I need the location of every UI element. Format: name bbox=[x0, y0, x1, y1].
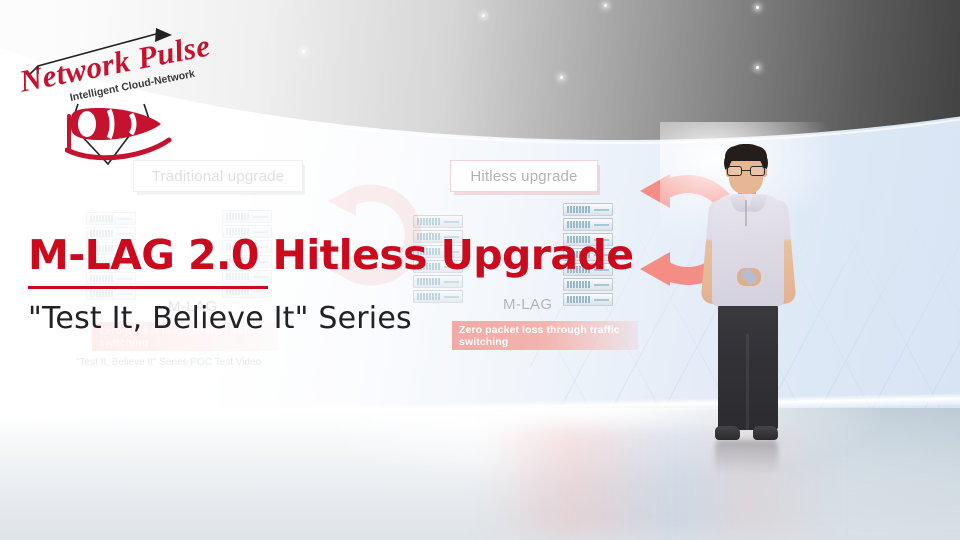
presenter-floor-reflection bbox=[715, 440, 778, 474]
hitless-upgrade-label: Hitless upgrade bbox=[450, 160, 598, 192]
presenter-fringe bbox=[725, 146, 767, 161]
presenter-clasped-hands bbox=[737, 268, 761, 286]
page-title: M-LAG 2.0 Hitless Upgrade bbox=[28, 234, 628, 277]
presenter bbox=[688, 140, 808, 450]
title-block: M-LAG 2.0 Hitless Upgrade "Test It, Beli… bbox=[28, 234, 628, 336]
poc-test-video-caption: "Test It, Believe It" Series POC Test Vi… bbox=[76, 357, 306, 368]
studio-stage: Traditional upgrade Hitless upgrade bbox=[0, 0, 960, 540]
presenter-left-shoe bbox=[715, 426, 740, 440]
presenter-trousers bbox=[718, 302, 778, 430]
presenter-shirt-placket bbox=[745, 200, 747, 226]
network-pulse-logo: Network Pulse Intelligent Cloud-Network bbox=[8, 18, 218, 158]
title-underline-rule bbox=[28, 286, 268, 289]
glasses-icon bbox=[726, 166, 766, 176]
presenter-right-shoe bbox=[753, 426, 778, 440]
page-subtitle: "Test It, Believe It" Series bbox=[28, 301, 628, 336]
windsock-icon bbox=[65, 106, 195, 162]
